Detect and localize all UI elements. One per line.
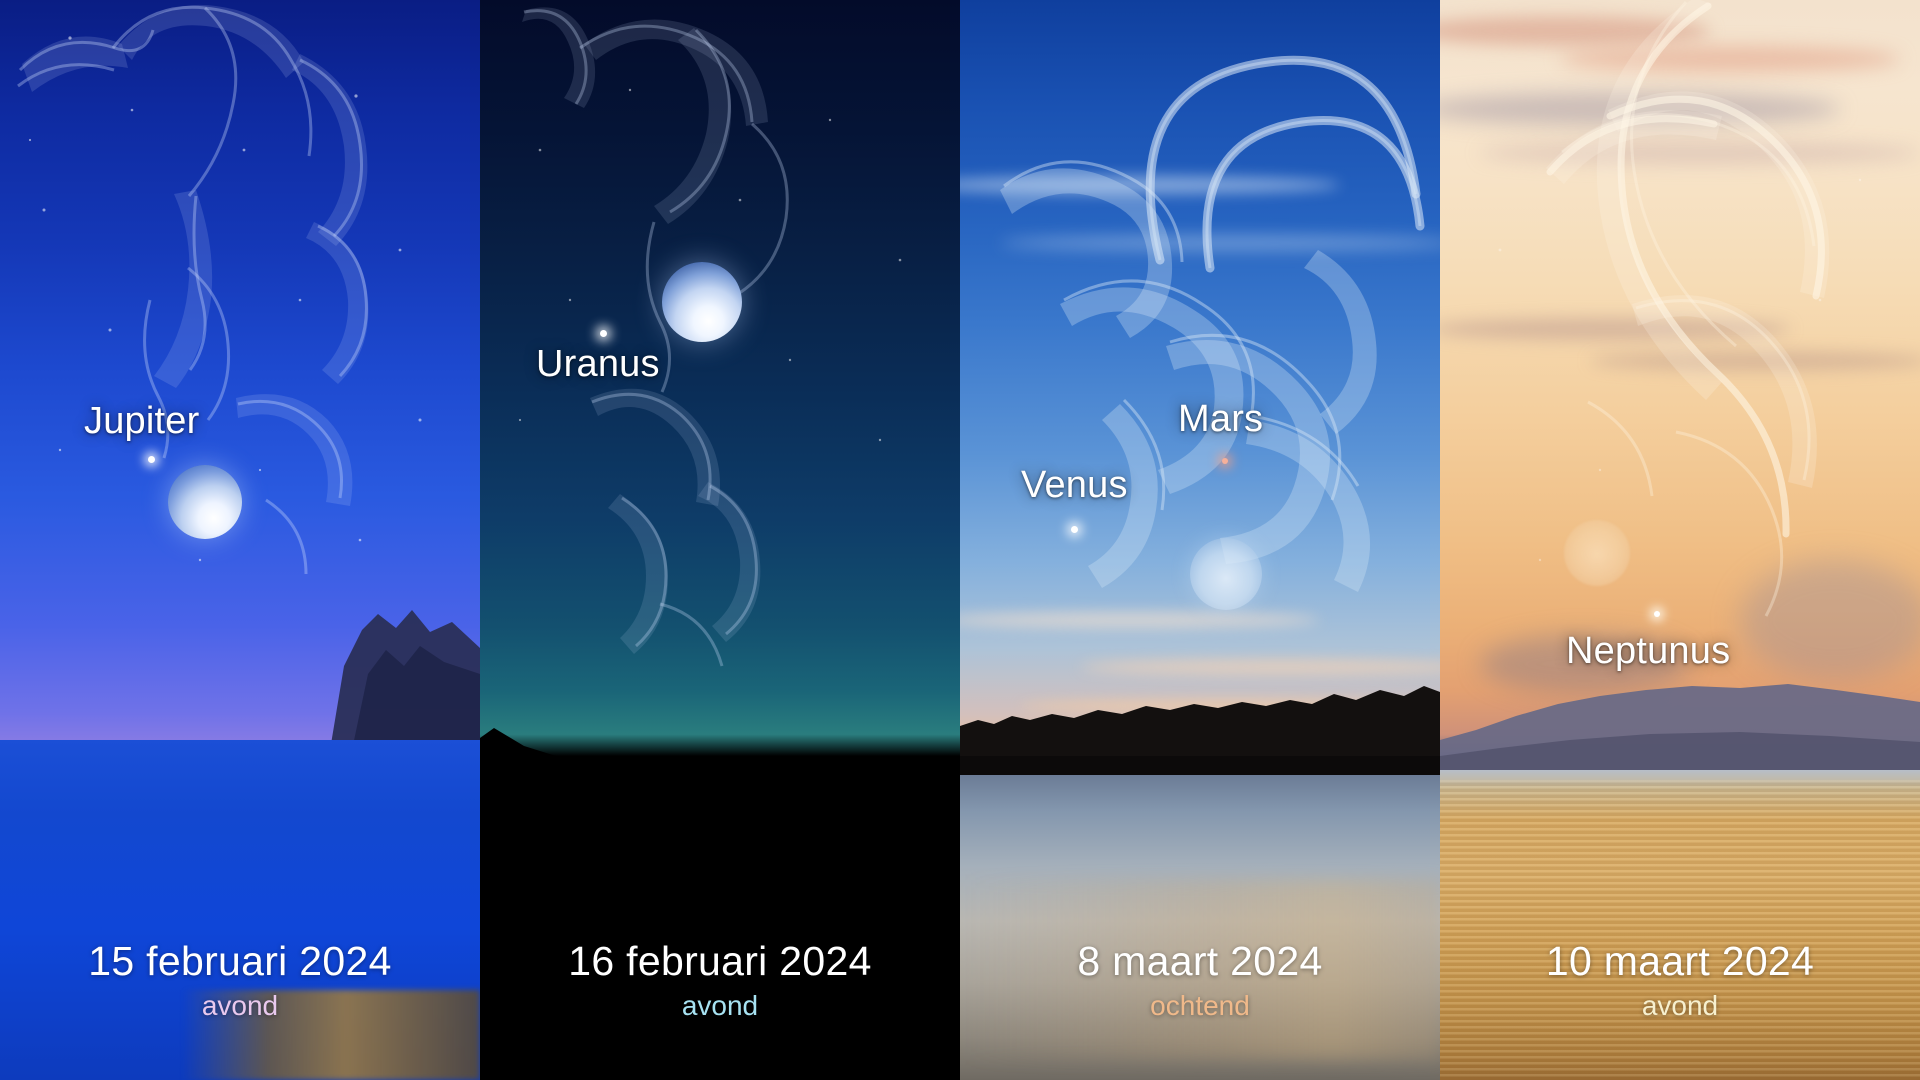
sky-gradient-panel-2 xyxy=(480,0,960,1080)
panel-jupiter[interactable]: Jupiter 15 februari 2024 avond xyxy=(0,0,480,1080)
sky-gradient-panel-4 xyxy=(1440,0,1920,1080)
panel-neptunus[interactable]: Neptunus 10 maart 2024 avond xyxy=(1440,0,1920,1080)
planet-label-neptunus: Neptunus xyxy=(1566,630,1730,673)
panel-venus-mars[interactable]: Mars Venus 8 maart 2024 ochtend xyxy=(960,0,1440,1080)
planet-label-mars: Mars xyxy=(1178,398,1263,441)
sky-gradient-panel-3 xyxy=(960,0,1440,1080)
sky-gradient-panel-1 xyxy=(0,0,480,1080)
panel-uranus[interactable]: Uranus 16 februari 2024 avond xyxy=(480,0,960,1080)
planet-label-venus: Venus xyxy=(1021,464,1128,507)
planet-label-jupiter: Jupiter xyxy=(84,400,199,443)
sky-calendar-board: Jupiter 15 februari 2024 avond xyxy=(0,0,1920,1080)
planet-label-uranus: Uranus xyxy=(536,343,660,386)
